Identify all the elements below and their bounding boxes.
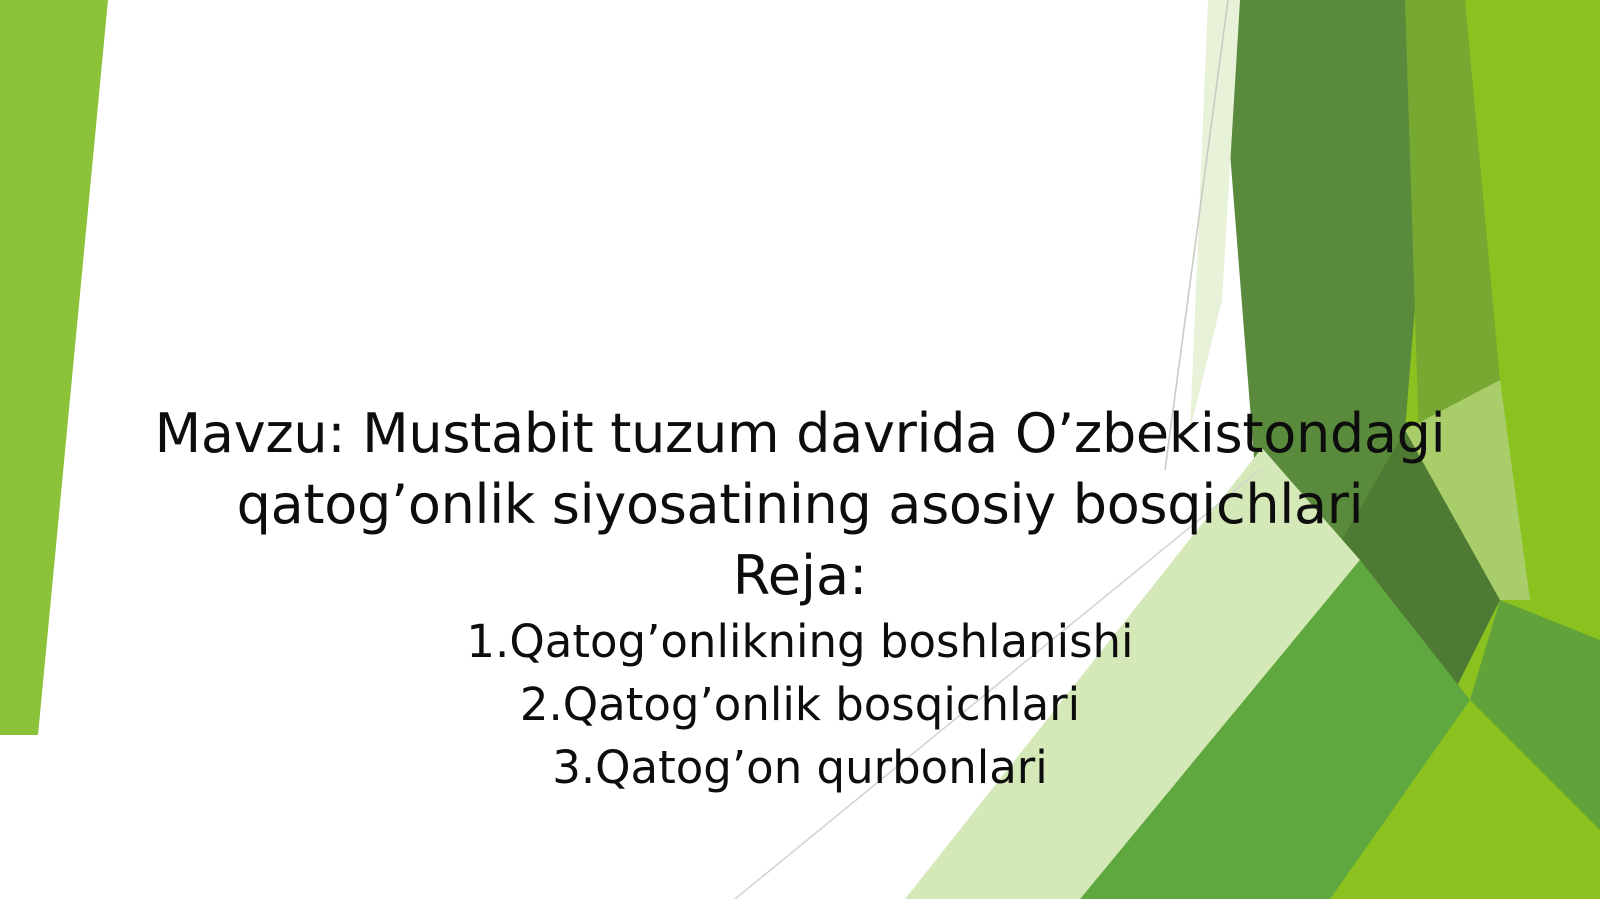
plan-item-3: 3.Qatog’on qurbonlari <box>0 736 1600 799</box>
title-line-1: Mavzu: Mustabit tuzum davrida O’zbekisto… <box>0 398 1600 469</box>
presentation-slide: Mavzu: Mustabit tuzum davrida O’zbekisto… <box>0 0 1600 899</box>
plan-list: 1.Qatog’onlikning boshlanishi 2.Qatog’on… <box>0 610 1600 799</box>
title-line-2: qatog’onlik siyosatining asosiy bosqichl… <box>0 469 1600 540</box>
plan-item-2: 2.Qatog’onlik bosqichlari <box>0 673 1600 736</box>
slide-content: Mavzu: Mustabit tuzum davrida O’zbekisto… <box>0 0 1600 899</box>
plan-item-1: 1.Qatog’onlikning boshlanishi <box>0 610 1600 673</box>
slide-title-block: Mavzu: Mustabit tuzum davrida O’zbekisto… <box>0 398 1600 612</box>
title-line-3-reja-label: Reja: <box>0 540 1600 612</box>
